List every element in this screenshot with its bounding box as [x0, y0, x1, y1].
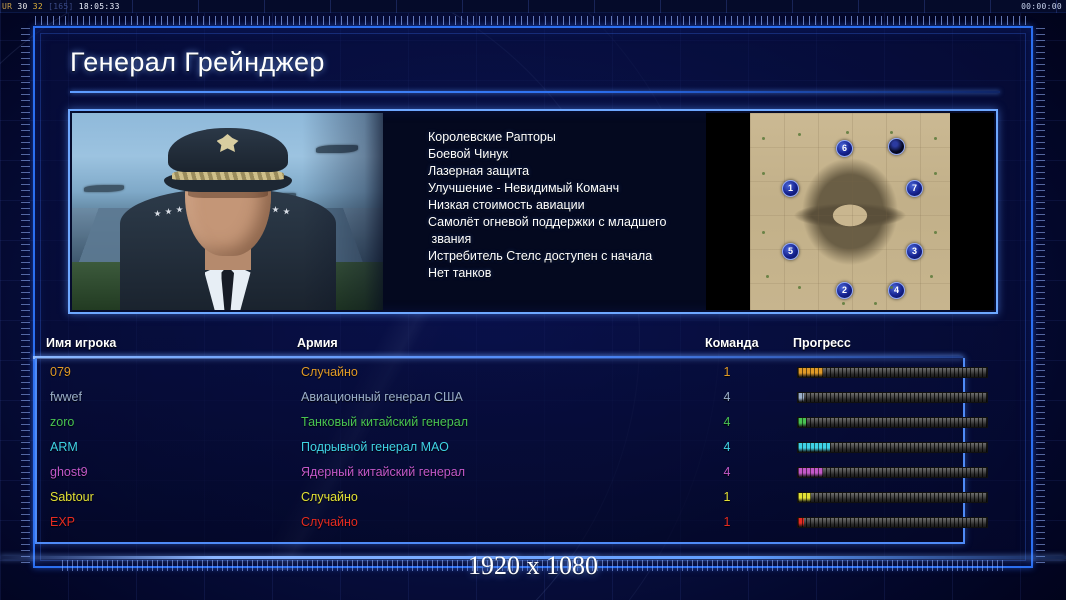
player-progress-bar	[797, 467, 988, 478]
player-table-header: Имя игрока Армия Команда Прогресс	[33, 336, 963, 356]
status-segment-bracket: [165]	[48, 2, 74, 11]
column-header-progress: Прогресс	[793, 336, 851, 350]
player-name-cell: ghost9	[50, 465, 88, 479]
column-header-team: Команда	[705, 336, 759, 350]
status-segment-fps: 30	[17, 2, 27, 11]
player-progress-fill	[798, 493, 811, 502]
player-name-cell: 079	[50, 365, 71, 379]
minimap-start-position-5[interactable]: 5	[782, 243, 799, 260]
player-progress-bar	[797, 367, 988, 378]
general-info-panel: Королевские Рапторы Боевой Чинук Лазерна…	[68, 109, 998, 314]
player-team-cell: 4	[709, 440, 745, 454]
player-progress-bar	[797, 517, 988, 528]
player-name-cell: EXP	[50, 515, 75, 529]
player-team-cell: 1	[709, 490, 745, 504]
minimap-terrain-dot	[930, 275, 933, 278]
player-army-cell: Ядерный китайский генерал	[301, 465, 465, 479]
player-progress-fill	[798, 518, 804, 527]
player-name-cell: Sabtour	[50, 490, 94, 504]
screen-root: UR 30 32 [165] 18:05:33 00:00:00 Генерал…	[0, 0, 1066, 600]
minimap-terrain-dot	[766, 275, 769, 278]
frame-ruler-right	[1036, 28, 1045, 566]
status-bar: UR 30 32 [165] 18:05:33 00:00:00	[0, 0, 1066, 13]
player-progress-bar	[797, 492, 988, 503]
player-progress-bar	[797, 442, 988, 453]
frame-ruler-left	[21, 28, 30, 566]
player-team-cell: 4	[709, 415, 745, 429]
status-segment-ping: 32	[33, 2, 43, 11]
minimap-terrain-dot	[798, 133, 801, 136]
minimap-terrain-dot	[890, 131, 893, 134]
player-progress-fill	[798, 393, 804, 402]
frame-ruler-top	[35, 16, 1031, 25]
minimap-container[interactable]: 6175324	[706, 113, 994, 310]
player-army-cell: Случайно	[301, 515, 358, 529]
minimap-start-position-3[interactable]: 3	[906, 243, 923, 260]
page-title: Генерал Грейнджер	[70, 42, 1000, 82]
minimap-terrain-dot	[762, 137, 765, 140]
column-header-army: Армия	[297, 336, 338, 350]
minimap-start-position-1[interactable]: 1	[782, 180, 799, 197]
table-row[interactable]: 079Случайно1	[37, 362, 967, 387]
table-row[interactable]: ARMПодрывной генерал МАО4	[37, 437, 967, 462]
minimap-image[interactable]: 6175324	[750, 113, 950, 310]
player-team-cell: 1	[709, 515, 745, 529]
minimap-start-position-7[interactable]: 7	[906, 180, 923, 197]
general-portrait	[72, 113, 383, 310]
title-bar: Генерал Грейнджер	[70, 42, 1000, 92]
minimap-terrain-dot	[846, 131, 849, 134]
player-army-cell: Случайно	[301, 490, 358, 504]
player-team-cell: 1	[709, 365, 745, 379]
table-row[interactable]: fwwefАвиационный генерал США4	[37, 387, 967, 412]
status-bar-left: UR 30 32 [165] 18:05:33	[2, 0, 120, 13]
column-header-name: Имя игрока	[46, 336, 116, 350]
player-name-cell: fwwef	[50, 390, 82, 404]
player-army-cell: Случайно	[301, 365, 358, 379]
player-army-cell: Подрывной генерал МАО	[301, 440, 449, 454]
player-table: 079Случайно1fwwefАвиационный генерал США…	[35, 358, 965, 544]
table-row[interactable]: EXPСлучайно1	[37, 512, 967, 537]
player-name-cell: ARM	[50, 440, 78, 454]
player-progress-fill	[798, 368, 823, 377]
player-team-cell: 4	[709, 390, 745, 404]
player-progress-fill	[798, 418, 806, 427]
player-team-cell: 4	[709, 465, 745, 479]
title-divider	[70, 91, 1000, 93]
status-segment-clock: 18:05:33	[79, 2, 120, 11]
table-row[interactable]: SabtourСлучайно1	[37, 487, 967, 512]
player-progress-fill	[798, 468, 823, 477]
status-bar-timer: 00:00:00	[1021, 0, 1062, 13]
player-army-cell: Танковый китайский генерал	[301, 415, 468, 429]
player-progress-fill	[798, 443, 830, 452]
portrait-vignette	[72, 113, 383, 310]
player-progress-bar	[797, 417, 988, 428]
table-row[interactable]: ghost9Ядерный китайский генерал4	[37, 462, 967, 487]
player-progress-bar	[797, 392, 988, 403]
status-bar-grid	[0, 0, 1066, 13]
minimap-terrain-dot	[934, 137, 937, 140]
resolution-label: 1920 x 1080	[0, 551, 1066, 581]
table-row[interactable]: zoroТанковый китайский генерал4	[37, 412, 967, 437]
status-segment-ur: UR	[2, 2, 12, 11]
player-army-cell: Авиационный генерал США	[301, 390, 463, 404]
player-name-cell: zoro	[50, 415, 74, 429]
